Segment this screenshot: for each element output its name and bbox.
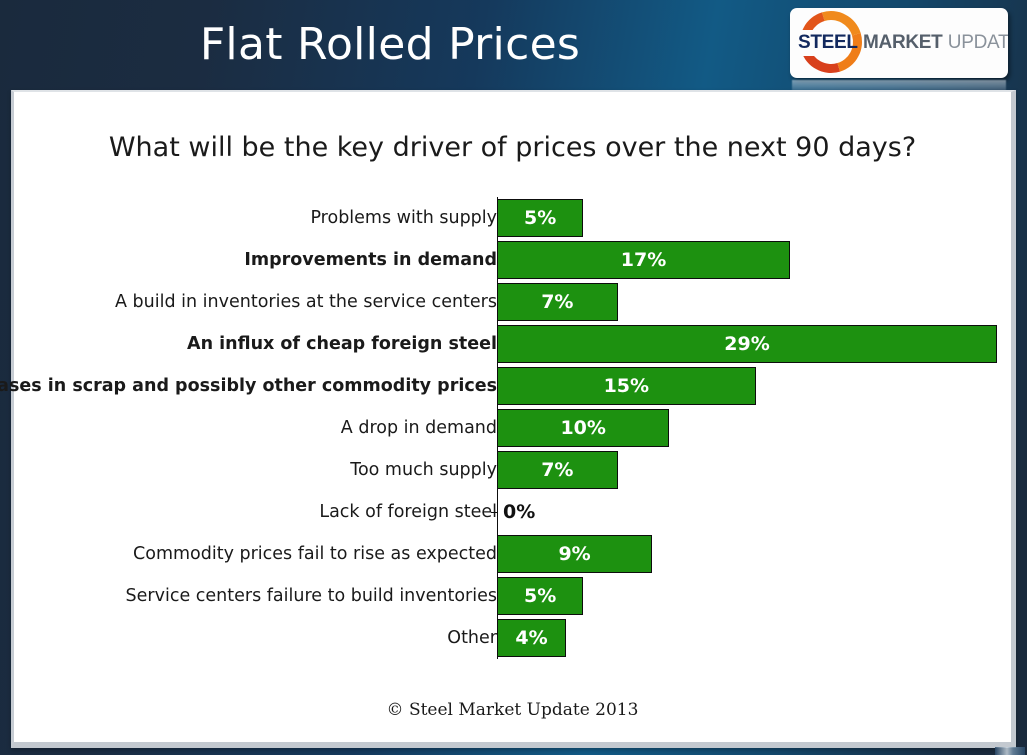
bar-category-label: A drop in demand <box>341 407 497 449</box>
bar-value-label: 10% <box>497 409 669 447</box>
bar-row: Other4% <box>14 617 1011 659</box>
slide-header: Flat Rolled Prices STEEL MARKET UPDATE <box>0 0 1027 96</box>
bar-row: A build in inventories at the service ce… <box>14 281 1011 323</box>
bar-row: Service centers failure to build invento… <box>14 575 1011 617</box>
bar-value-label: 7% <box>497 451 618 489</box>
bar-row: An influx of cheap foreign steel29% <box>14 323 1011 365</box>
bar-category-label: Lack of foreign steel <box>319 491 497 533</box>
bar-value-label: 9% <box>497 535 652 573</box>
bar-track: 7% <box>497 281 1011 323</box>
corner-artifact <box>995 747 1025 755</box>
axis-tick <box>491 512 498 513</box>
page-title: Flat Rolled Prices <box>0 18 780 72</box>
bar-category-label: Service centers failure to build invento… <box>126 575 497 617</box>
bar-chart: Problems with supply5%Improvements in de… <box>14 197 1011 677</box>
logo-word-update: UPDATE <box>948 32 1008 53</box>
logo-text: STEEL MARKET UPDATE <box>798 30 1003 55</box>
bar-value-label: 5% <box>497 577 583 615</box>
bar-track: 7% <box>497 449 1011 491</box>
bar-row: Too much supply7% <box>14 449 1011 491</box>
bar-category-label: A build in inventories at the service ce… <box>115 281 497 323</box>
copyright-notice: © Steel Market Update 2013 <box>14 700 1011 720</box>
bar-row: Improvements in demand17% <box>14 239 1011 281</box>
bar-value-label: 5% <box>497 199 583 237</box>
bar-value-label: 17% <box>497 241 790 279</box>
bar-category-label: Increases in scrap and possibly other co… <box>0 365 497 407</box>
bar-rows: Problems with supply5%Improvements in de… <box>14 197 1011 659</box>
bar-category-label: An influx of cheap foreign steel <box>187 323 497 365</box>
bar-value-label: 4% <box>497 619 566 657</box>
bar-track: 15% <box>497 365 1011 407</box>
bar-row: Lack of foreign steel0% <box>14 491 1011 533</box>
bar-track: 9% <box>497 533 1011 575</box>
bar-value-label: 29% <box>497 325 997 363</box>
bar-category-label: Commodity prices fail to rise as expecte… <box>133 533 497 575</box>
bar-track: 17% <box>497 239 1011 281</box>
bar-track: 29% <box>497 323 1011 365</box>
bar-row: A drop in demand10% <box>14 407 1011 449</box>
content-frame: What will be the key driver of prices ov… <box>11 90 1016 748</box>
bar-value-label: 0% <box>503 493 535 531</box>
bar-category-label: Problems with supply <box>310 197 497 239</box>
slide: Flat Rolled Prices STEEL MARKET UPDATE W… <box>0 0 1027 755</box>
bar-track: 10% <box>497 407 1011 449</box>
logo-word-market: MARKET <box>863 32 942 53</box>
logo-word-steel: STEEL <box>798 32 858 53</box>
bar-row: Increases in scrap and possibly other co… <box>14 365 1011 407</box>
bar-row: Problems with supply5% <box>14 197 1011 239</box>
bar-category-label: Improvements in demand <box>244 239 497 281</box>
bar-track: 4% <box>497 617 1011 659</box>
logo-card: STEEL MARKET UPDATE <box>790 8 1008 78</box>
content-panel: What will be the key driver of prices ov… <box>14 92 1011 742</box>
bar-track: 5% <box>497 197 1011 239</box>
bar-value-label: 15% <box>497 367 756 405</box>
bar-value-label: 7% <box>497 283 618 321</box>
bar-category-label: Other <box>447 617 497 659</box>
bar-row: Commodity prices fail to rise as expecte… <box>14 533 1011 575</box>
chart-title: What will be the key driver of prices ov… <box>14 132 1011 163</box>
brand-logo: STEEL MARKET UPDATE <box>790 8 1012 88</box>
bar-category-label: Too much supply <box>350 449 497 491</box>
bar-track: 5% <box>497 575 1011 617</box>
bar-track: 0% <box>497 491 1011 533</box>
